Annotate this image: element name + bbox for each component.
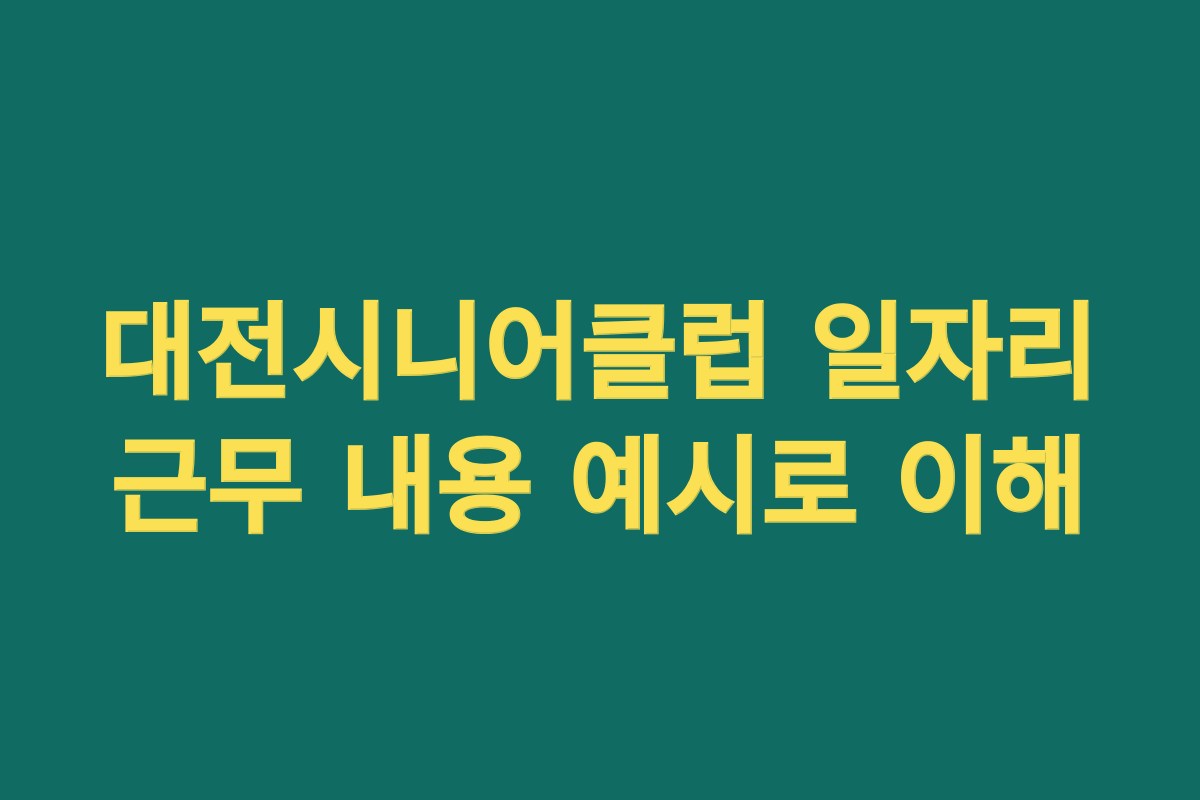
- headline-line-1: 대전시니어클럽 일자리: [0, 286, 1200, 420]
- headline-line-2: 근무 내용 예시로 이해: [0, 420, 1200, 554]
- headline-block: 대전시니어클럽 일자리 근무 내용 예시로 이해: [0, 286, 1200, 554]
- banner-canvas: 대전시니어클럽 일자리 근무 내용 예시로 이해: [0, 0, 1200, 800]
